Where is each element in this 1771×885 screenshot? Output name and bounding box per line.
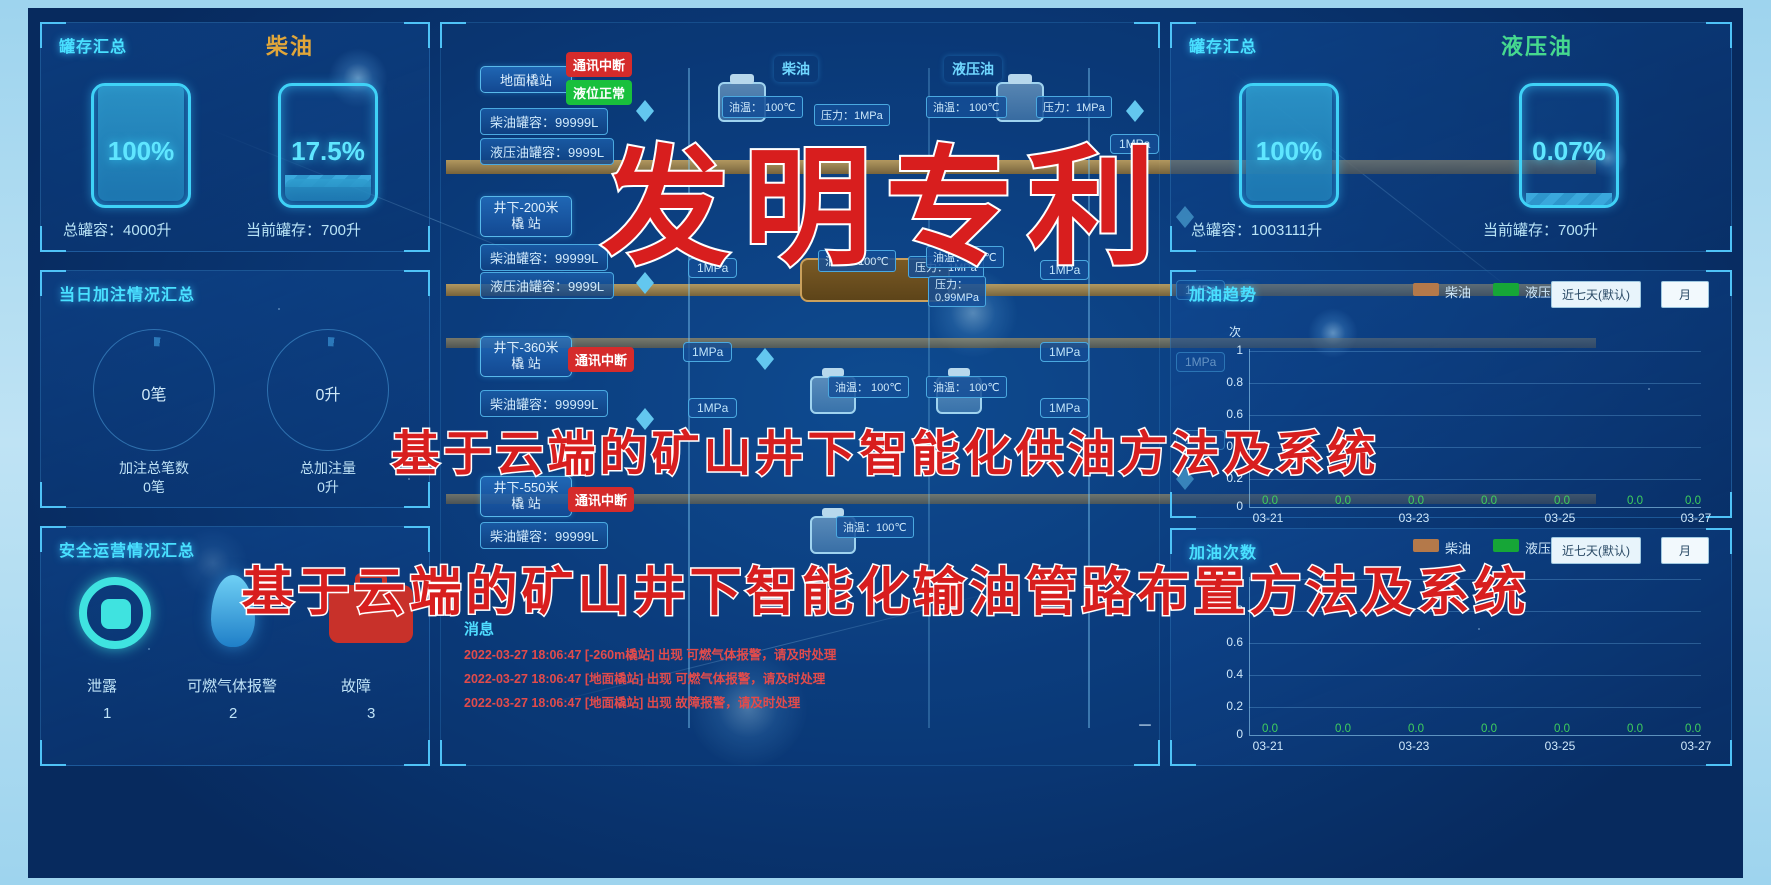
oil-type-label-hydraulic: 液压油 (1501, 29, 1573, 61)
chart-xtick: 03-23 (1389, 739, 1439, 753)
chart-point-label: 0.0 (1253, 723, 1287, 735)
tank-wave (1526, 193, 1612, 205)
gauge-refuel-volume[interactable]: 0升 (253, 315, 403, 465)
tank-percent-label: 100% (94, 136, 188, 167)
chart-point-label: 0.0 (1326, 723, 1360, 735)
tank-total-diesel[interactable]: 100% (91, 83, 191, 208)
watermark-title-1: 基于云端的矿山井下智能化供油方法及系统 (391, 414, 1379, 484)
station-capacity-diesel: 柴油罐容：99999L (480, 244, 608, 271)
panel-title-storage-diesel: 罐存汇总 (59, 33, 127, 57)
chart-point-label: 0.0 (1676, 723, 1710, 735)
panel-title-safety: 安全运营情况汇总 (59, 537, 195, 561)
gauge-value: 0笔 (79, 381, 229, 405)
chart-gridline (1249, 643, 1701, 644)
station-tag-level-normal: 液位正常 (566, 80, 632, 105)
chart-point-label: 0.0 (1472, 723, 1506, 735)
panel-corner (404, 22, 430, 48)
station-name-200m[interactable]: 井下-200米 橇 站 (480, 196, 572, 237)
panel-left-refuel: 当日加注情况汇总 0笔 加注总笔数 0笔 0升 总加注量 0升 (40, 270, 430, 508)
chart-point-label: 0.0 (1472, 495, 1506, 507)
message-row: 2022-03-27 18:06:47 [-260m橇站] 出现 可燃气体报警，… (464, 644, 836, 663)
legend-swatch-hydraulic (1493, 283, 1519, 296)
gauge-refuel-count[interactable]: 0笔 (79, 315, 229, 465)
schematic-label-diesel: 柴油 (774, 56, 818, 82)
chart-point-label: 0.0 (1253, 495, 1287, 507)
oil-type-label-diesel: 柴油 (266, 29, 314, 61)
station-tag-comm-interrupt: 通讯中断 (566, 52, 632, 77)
legend-label-diesel: 柴油 (1445, 282, 1471, 301)
sensor-oil-temp: 油温： 100℃ (828, 376, 909, 398)
range-button-month[interactable]: 月 (1661, 281, 1709, 308)
dashboard-screen: 罐存汇总 柴油 100% 总罐容：4000升 17.5% 当前罐存：700升 当… (28, 8, 1743, 878)
safety-value-gas: 2 (229, 705, 237, 722)
chart-gridline (1249, 383, 1701, 384)
tank-percent-label: 100% (1242, 136, 1336, 167)
panel-title-trend: 加油趋势 (1189, 281, 1257, 305)
panel-right-storage: 罐存汇总 液压油 100% 总罐容：1003111升 0.07% 当前罐存：70… (1170, 22, 1732, 252)
message-row: 2022-03-27 18:06:47 [地面橇站] 出现 故障报警，请及时处理 (464, 692, 800, 711)
tank-total-caption: 总罐容：4000升 (63, 219, 171, 240)
message-row: 2022-03-27 18:06:47 [地面橇站] 出现 可燃气体报警，请及时… (464, 668, 825, 687)
chart-xtick: 03-21 (1243, 739, 1293, 753)
tank-total-caption: 总罐容：1003111升 (1191, 219, 1322, 240)
app-root: 罐存汇总 柴油 100% 总罐容：4000升 17.5% 当前罐存：700升 当… (0, 0, 1771, 885)
tank-percent-label: 0.07% (1522, 136, 1616, 167)
tank-percent-label: 17.5% (281, 136, 375, 167)
safety-label-fault: 故障 (341, 675, 371, 696)
vessel-cap (730, 74, 754, 84)
chart-xaxis (1249, 507, 1701, 508)
pressure-tag: 1MPa (683, 342, 732, 362)
gauge-value: 0升 (253, 381, 403, 405)
chart-xtick: 03-27 (1671, 739, 1721, 753)
station-tag-comm-interrupt: 通讯中断 (568, 487, 634, 512)
schematic-label-hydraulic: 液压油 (944, 56, 1002, 82)
pressure-tag: 1MPa (1040, 342, 1089, 362)
chart-ytick: 1 (1213, 343, 1243, 357)
watermark-title-2: 基于云端的矿山井下智能化输油管路布置方法及系统 (241, 550, 1529, 625)
sensor-oil-temp: 油温：100℃ (836, 516, 914, 538)
chart-xtick: 03-23 (1389, 511, 1439, 525)
tank-fill (285, 179, 371, 201)
chart-xtick: 03-21 (1243, 511, 1293, 525)
panel-title-refuel: 当日加注情况汇总 (59, 281, 195, 305)
safety-value-fault: 3 (367, 705, 375, 722)
legend-swatch-diesel (1413, 283, 1439, 296)
tank-current-diesel[interactable]: 17.5% (278, 83, 378, 208)
safety-value-leak: 1 (103, 705, 111, 722)
panel-left-storage: 罐存汇总 柴油 100% 总罐容：4000升 17.5% 当前罐存：700升 (40, 22, 430, 252)
station-capacity-diesel: 柴油罐容：99999L (480, 108, 608, 135)
chart-ytick: 0.8 (1213, 375, 1243, 389)
chart-xaxis (1249, 735, 1701, 736)
chart-ytick: 0.2 (1213, 699, 1243, 713)
chart-ytick: 0.4 (1213, 667, 1243, 681)
tank-current-caption: 当前罐存：700升 (246, 219, 361, 240)
sensor-oil-temp: 油温： 100℃ (926, 376, 1007, 398)
range-button-month[interactable]: 月 (1661, 537, 1709, 564)
chart-point-label: 0.0 (1545, 723, 1579, 735)
station-capacity-diesel: 柴油罐容：99999L (480, 390, 608, 417)
safety-label-leak: 泄露 (87, 675, 117, 696)
tank-current-caption: 当前罐存：700升 (1483, 219, 1598, 240)
chart-point-label: 0.0 (1545, 495, 1579, 507)
station-name-surface[interactable]: 地面橇站 (480, 66, 572, 93)
vessel-cap (1008, 74, 1032, 84)
watermark-patent: 发明专利 (601, 104, 1169, 289)
station-name-360m[interactable]: 井下-360米 橇 站 (480, 336, 572, 377)
chart-point-label: 0.0 (1399, 495, 1433, 507)
tank-current-hydraulic[interactable]: 0.07% (1519, 83, 1619, 208)
chart-ytick: 0.6 (1213, 635, 1243, 649)
leak-icon-core (101, 599, 131, 629)
station-capacity-hydraulic: 液压油罐容：9999L (480, 272, 614, 299)
chart-xtick: 03-25 (1535, 739, 1585, 753)
chart-point-label: 0.0 (1326, 495, 1360, 507)
range-button-seven-days[interactable]: 近七天(默认) (1551, 281, 1641, 308)
chart-xtick: 03-25 (1535, 511, 1585, 525)
chart-point-label: 0.0 (1676, 495, 1710, 507)
chart-xtick: 03-27 (1671, 511, 1721, 525)
minimize-button[interactable]: － (1136, 720, 1154, 738)
range-button-seven-days[interactable]: 近七天(默认) (1551, 537, 1641, 564)
tank-total-hydraulic[interactable]: 100% (1239, 83, 1339, 208)
safety-label-gas: 可燃气体报警 (187, 675, 277, 696)
chart-ytick: 0 (1213, 727, 1243, 741)
chart-gridline (1249, 707, 1701, 708)
chart-ytick: 0 (1213, 499, 1243, 513)
gauge-label-count: 加注总笔数 0笔 (64, 459, 244, 497)
panel-corner (404, 226, 430, 252)
chart-gridline (1249, 675, 1701, 676)
station-tag-comm-interrupt: 通讯中断 (568, 347, 634, 372)
chart-point-label: 0.0 (1618, 495, 1652, 507)
chart-gridline (1249, 351, 1701, 352)
station-capacity-hydraulic: 液压油罐容：9999L (480, 138, 614, 165)
panel-title-storage-hydraulic: 罐存汇总 (1189, 33, 1257, 57)
chart-point-label: 0.0 (1618, 723, 1652, 735)
chart-ylabel: 次 (1229, 323, 1241, 340)
station-capacity-diesel: 柴油罐容：99999L (480, 522, 608, 549)
chart-point-label: 0.0 (1399, 723, 1433, 735)
